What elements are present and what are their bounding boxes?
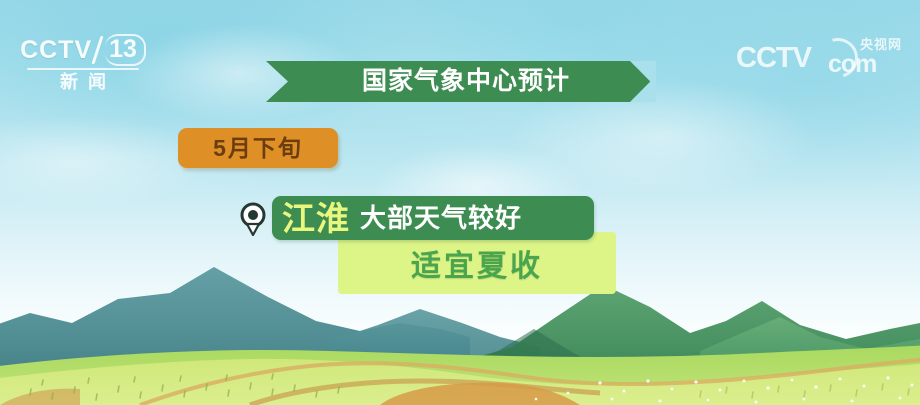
headline-ribbon: 国家气象中心预计 (266, 61, 656, 102)
date-badge: 5月下旬 (178, 128, 338, 168)
cctv13-channel-logo: CCTV 13 新闻 (18, 33, 148, 95)
cctv-logo-underline (27, 68, 139, 70)
region-name: 江淮 (272, 202, 350, 235)
watermark-chinese-name: 央视网 (860, 38, 902, 51)
location-pin-icon (240, 202, 266, 236)
cctv-slash-divider (92, 36, 104, 64)
region-description: 大部天气较好 (350, 205, 522, 231)
channel-number: 13 (105, 34, 146, 66)
headline-text: 国家气象中心预计 (352, 69, 570, 94)
watermark-suffix: com (828, 52, 876, 77)
cctv-com-watermark: CCTV com 央视网 (736, 38, 902, 82)
region-forecast-pill: 江淮 大部天气较好 (272, 196, 594, 240)
ribbon-right-chevron-icon (630, 61, 656, 102)
conclusion-text: 适宜夏收 (338, 232, 616, 294)
cctv-logo-row: CCTV 13 (18, 33, 148, 67)
watermark-brand: CCTV (736, 44, 811, 73)
channel-subtitle: 新闻 (18, 73, 148, 91)
cctv-wordmark: CCTV (20, 38, 92, 63)
date-badge-label: 5月下旬 (213, 137, 303, 160)
broadcast-frame: CCTV 13 新闻 CCTV com 央视网 国家气象中心预计 5月下旬 适宜… (0, 0, 920, 405)
